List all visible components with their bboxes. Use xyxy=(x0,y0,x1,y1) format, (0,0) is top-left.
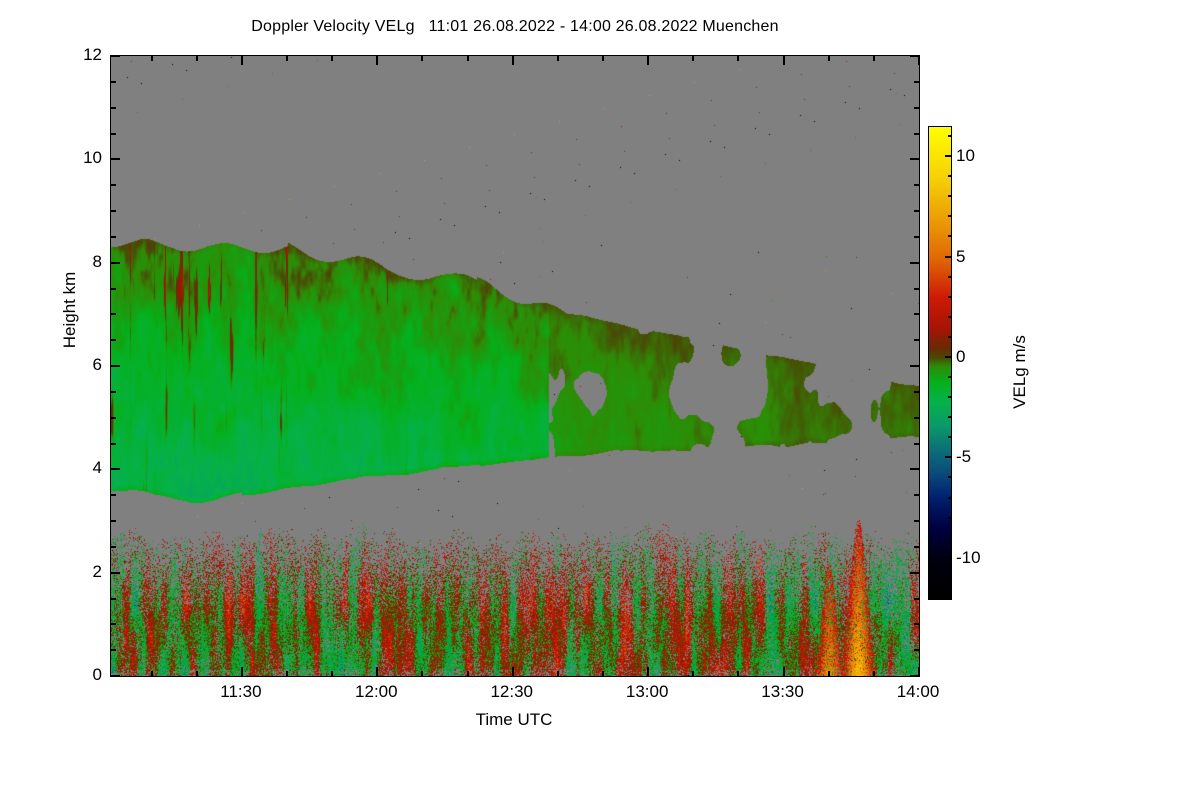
axis-tick xyxy=(111,649,116,651)
x-axis-title: Time UTC xyxy=(110,710,918,730)
plot-area[interactable] xyxy=(110,55,920,677)
colorbar-tick xyxy=(948,175,952,177)
axis-tick xyxy=(151,671,153,676)
axis-tick xyxy=(111,339,116,341)
colorbar-tick xyxy=(948,135,952,137)
axis-tick xyxy=(914,107,919,109)
colorbar-tick-label: -5 xyxy=(956,447,971,467)
colorbar-tick xyxy=(948,577,952,579)
axis-tick xyxy=(873,56,875,61)
axis-tick xyxy=(111,572,120,574)
axis-tick xyxy=(421,671,423,676)
axis-tick xyxy=(111,675,120,677)
axis-tick xyxy=(647,56,649,65)
axis-tick xyxy=(196,671,198,676)
axis-tick xyxy=(376,667,378,676)
y-axis-tick-label: 8 xyxy=(93,252,102,272)
colorbar-tick xyxy=(948,316,952,318)
axis-tick xyxy=(111,236,116,238)
plot-title: Doppler Velocity VELg 11:01 26.08.2022 -… xyxy=(0,18,1030,36)
x-axis-tick-label: 11:30 xyxy=(220,682,261,702)
axis-tick xyxy=(692,56,694,61)
axis-tick xyxy=(914,391,919,393)
y-axis-tick-label: 12 xyxy=(83,45,102,65)
y-axis-title: Height km xyxy=(60,230,80,390)
x-axis-tick-label: 12:00 xyxy=(355,682,398,702)
axis-tick xyxy=(914,184,919,186)
axis-tick xyxy=(910,468,919,470)
colorbar-tick xyxy=(948,276,952,278)
axis-tick xyxy=(873,671,875,676)
axis-tick xyxy=(111,365,120,367)
colorbar-title: VELg m/s xyxy=(1010,282,1030,462)
axis-tick xyxy=(111,210,116,212)
y-axis-tick-label: 4 xyxy=(93,458,102,478)
axis-tick xyxy=(783,667,785,676)
axis-tick xyxy=(910,365,919,367)
colorbar-tick xyxy=(945,456,952,458)
colorbar-tick xyxy=(948,396,952,398)
colorbar-tick xyxy=(948,235,952,237)
axis-tick xyxy=(512,56,514,65)
axis-tick xyxy=(914,623,919,625)
axis-tick xyxy=(241,667,243,676)
axis-tick xyxy=(151,56,153,61)
axis-tick xyxy=(111,598,116,600)
axis-tick xyxy=(914,133,919,135)
axis-tick xyxy=(914,443,919,445)
axis-tick xyxy=(692,671,694,676)
axis-tick xyxy=(914,236,919,238)
axis-tick xyxy=(914,313,919,315)
axis-tick xyxy=(910,158,919,160)
axis-tick xyxy=(111,184,116,186)
axis-tick xyxy=(914,649,919,651)
axis-tick xyxy=(111,520,116,522)
axis-tick xyxy=(914,81,919,83)
axis-tick xyxy=(286,56,288,61)
colorbar-tick xyxy=(948,436,952,438)
colorbar-tick xyxy=(948,476,952,478)
axis-tick xyxy=(914,417,919,419)
axis-tick xyxy=(111,391,116,393)
colorbar-tick xyxy=(948,296,952,298)
colorbar-tick xyxy=(948,195,952,197)
x-axis-tick-label: 12:30 xyxy=(490,682,533,702)
axis-tick xyxy=(111,158,120,160)
x-axis-tick-labels: 11:3012:0012:3013:0013:3014:00 xyxy=(110,682,920,708)
axis-tick xyxy=(914,520,919,522)
axis-tick xyxy=(241,56,243,65)
axis-tick xyxy=(376,56,378,65)
axis-tick xyxy=(196,56,198,61)
axis-tick xyxy=(467,671,469,676)
axis-tick xyxy=(111,443,116,445)
axis-tick xyxy=(914,339,919,341)
colorbar-tick xyxy=(945,557,952,559)
axis-tick xyxy=(602,56,604,61)
colorbar-tick xyxy=(948,376,952,378)
axis-tick xyxy=(828,56,830,61)
axis-tick xyxy=(286,671,288,676)
colorbar-tick xyxy=(948,497,952,499)
axis-tick xyxy=(111,546,116,548)
axis-tick xyxy=(783,56,785,65)
axis-tick xyxy=(111,494,116,496)
axis-tick xyxy=(331,671,333,676)
y-axis-tick-label: 10 xyxy=(83,148,102,168)
axis-tick xyxy=(910,262,919,264)
axis-tick xyxy=(111,417,116,419)
axis-tick xyxy=(737,56,739,61)
axis-tick xyxy=(602,671,604,676)
axis-tick xyxy=(111,81,116,83)
colorbar-tick xyxy=(945,256,952,258)
axis-tick xyxy=(914,546,919,548)
axis-tick xyxy=(914,494,919,496)
colorbar-tick xyxy=(945,356,952,358)
y-axis-tick-label: 6 xyxy=(93,355,102,375)
colorbar-tick xyxy=(948,215,952,217)
axis-tick xyxy=(111,623,116,625)
axis-tick xyxy=(914,210,919,212)
x-axis-tick-label: 14:00 xyxy=(897,682,940,702)
y-axis-tick-label: 0 xyxy=(93,665,102,685)
colorbar-tick-layer xyxy=(928,126,952,600)
colorbar-tick-label: 5 xyxy=(956,247,965,267)
axis-tick xyxy=(918,56,920,65)
axis-tick xyxy=(647,667,649,676)
figure-canvas: Doppler Velocity VELg 11:01 26.08.2022 -… xyxy=(0,0,1200,800)
colorbar-tick-label: -10 xyxy=(956,548,981,568)
axis-tick xyxy=(111,468,120,470)
axis-tick xyxy=(828,671,830,676)
colorbar-tick xyxy=(948,517,952,519)
colorbar-tick xyxy=(948,537,952,539)
axis-tick xyxy=(111,288,116,290)
axis-tick xyxy=(111,313,116,315)
axis-tick xyxy=(557,671,559,676)
axis-tick xyxy=(918,667,920,676)
x-axis-tick-label: 13:00 xyxy=(626,682,669,702)
colorbar-tick xyxy=(948,416,952,418)
axis-tick xyxy=(914,288,919,290)
axis-tick xyxy=(512,667,514,676)
axis-tick xyxy=(421,56,423,61)
axis-tick xyxy=(111,107,116,109)
axis-tick xyxy=(737,671,739,676)
colorbar-tick xyxy=(948,336,952,338)
axis-tick xyxy=(557,56,559,61)
colorbar-tick-label: 0 xyxy=(956,347,965,367)
axis-tick xyxy=(331,56,333,61)
colorbar-tick-labels: -10-50510 xyxy=(956,126,1002,600)
y-axis-tick-label: 2 xyxy=(93,562,102,582)
doppler-velocity-heatmap xyxy=(111,56,919,676)
axis-tick xyxy=(914,598,919,600)
colorbar-tick xyxy=(948,597,952,599)
axis-tick xyxy=(467,56,469,61)
axis-tick xyxy=(111,262,120,264)
x-axis-tick-label: 13:30 xyxy=(761,682,804,702)
colorbar-tick-label: 10 xyxy=(956,146,975,166)
axis-tick xyxy=(910,572,919,574)
axis-tick xyxy=(111,55,120,57)
colorbar-tick xyxy=(945,155,952,157)
axis-tick xyxy=(111,133,116,135)
